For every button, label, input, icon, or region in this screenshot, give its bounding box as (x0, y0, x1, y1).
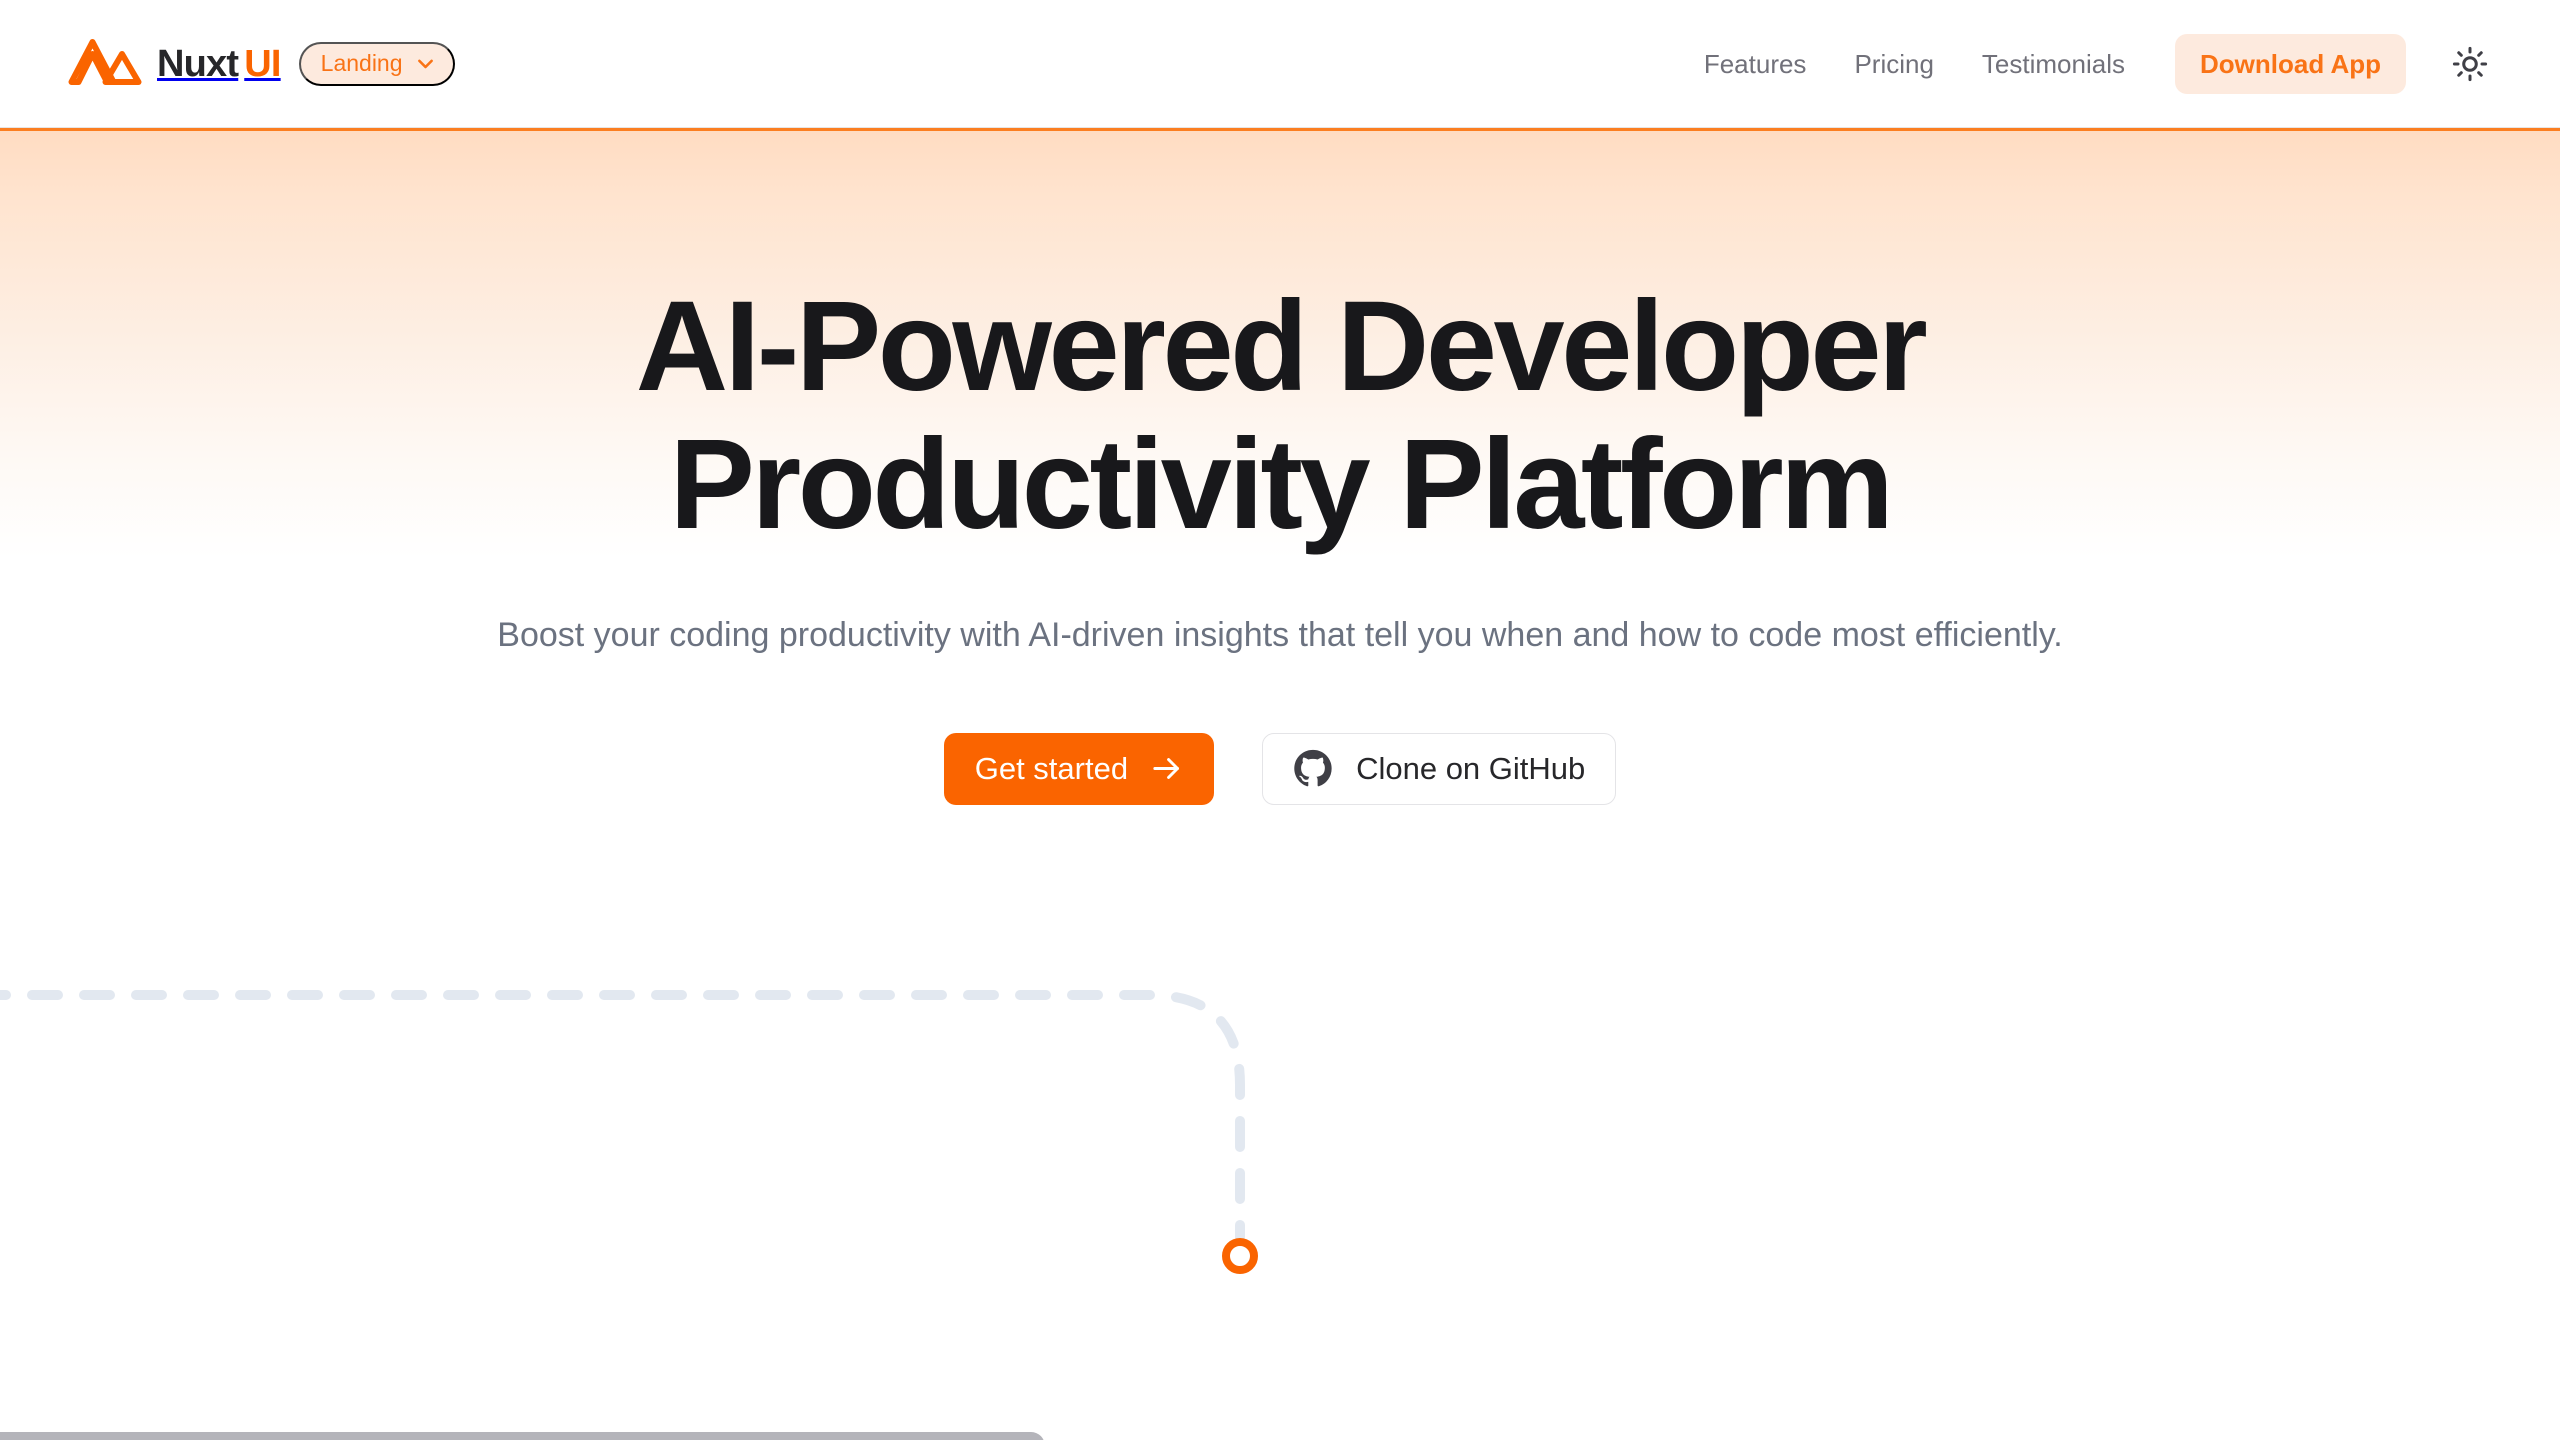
chevron-down-icon (415, 53, 436, 74)
brand: NuxtUI Landing (66, 38, 455, 90)
page-selector-label: Landing (321, 52, 403, 75)
download-app-button[interactable]: Download App (2175, 34, 2406, 94)
sun-icon (2452, 46, 2488, 82)
nuxt-logo-icon (66, 38, 144, 90)
brand-name-primary: Nuxt (157, 43, 238, 85)
site-header: NuxtUI Landing Features Pricing Testimon… (0, 0, 2560, 128)
gray-panel-edge (0, 1432, 1045, 1440)
theme-toggle-button[interactable] (2442, 36, 2498, 92)
primary-navigation: Features Pricing Testimonials Download A… (1680, 34, 2498, 94)
brand-name-accent: UI (244, 43, 280, 85)
github-icon (1293, 749, 1333, 789)
hero-subtitle: Boost your coding productivity with AI-d… (230, 611, 2330, 660)
nav-link-features[interactable]: Features (1680, 51, 1831, 77)
page-title: AI-Powered Developer Productivity Platfo… (430, 278, 2130, 554)
get-started-button[interactable]: Get started (944, 733, 1214, 805)
page-selector-dropdown[interactable]: Landing (299, 42, 455, 86)
nav-link-testimonials[interactable]: Testimonials (1958, 51, 2149, 77)
clone-on-github-label: Clone on GitHub (1356, 753, 1585, 784)
get-started-label: Get started (975, 753, 1128, 784)
brand-home-link[interactable]: NuxtUI (66, 38, 281, 90)
orange-circle-node (1226, 1242, 1254, 1270)
clone-on-github-button[interactable]: Clone on GitHub (1262, 733, 1616, 805)
brand-wordmark: NuxtUI (157, 45, 281, 83)
nav-link-pricing[interactable]: Pricing (1830, 51, 1957, 77)
dashed-connector-path (0, 995, 1240, 1237)
hero-cta-group: Get started Clone on GitHub (0, 733, 2560, 805)
hero-section: AI-Powered Developer Productivity Platfo… (0, 128, 2560, 805)
arrow-right-icon (1150, 752, 1183, 785)
